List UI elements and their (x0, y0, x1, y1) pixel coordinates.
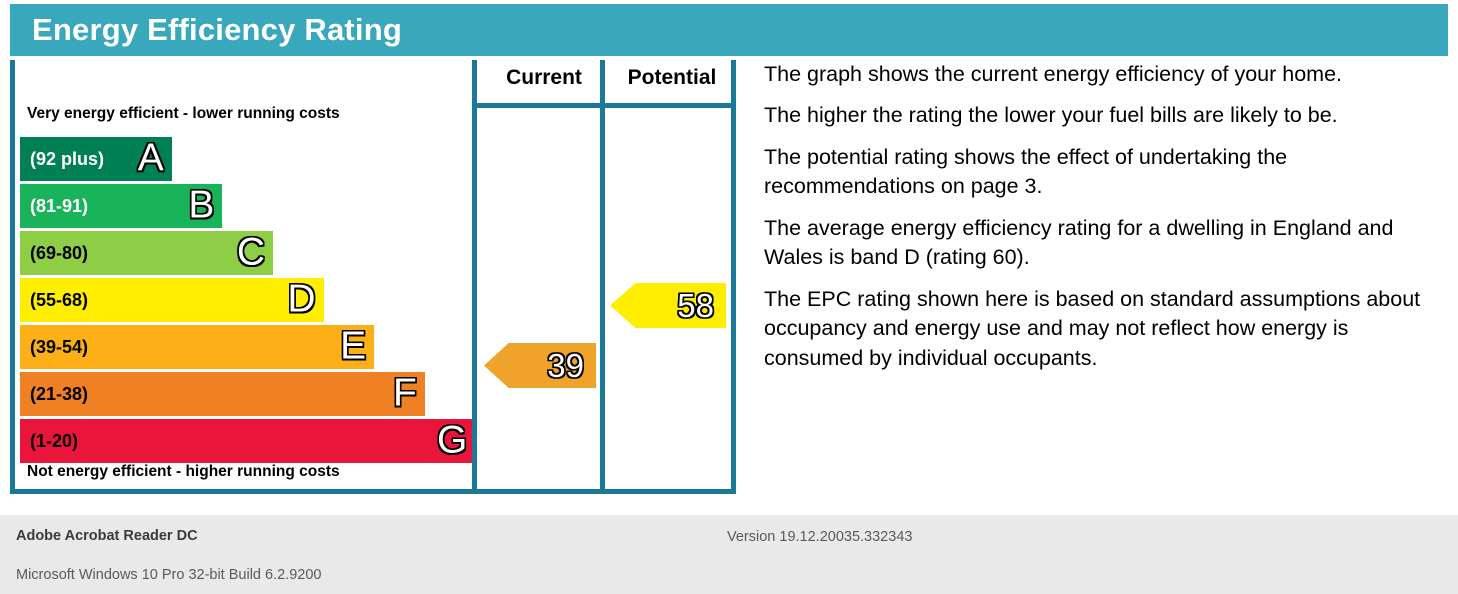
rating-band-d: (55-68)D (20, 278, 324, 322)
band-range-label: (39-54) (30, 338, 88, 356)
note-paragraph-3: The potential rating shows the effect of… (764, 143, 1450, 202)
column-divider-right (731, 60, 736, 494)
band-letter-c: C (237, 233, 265, 272)
rating-band-list: (92 plus)A(81-91)B(69-80)C(55-68)D(39-54… (20, 137, 480, 466)
note-paragraph-4: The average energy efficiency rating for… (764, 214, 1450, 273)
scale-caption-top: Very energy efficient - lower running co… (27, 105, 340, 123)
column-divider-left (472, 60, 477, 494)
band-letter-d: D (287, 280, 315, 319)
column-bottom-rule (472, 489, 736, 494)
band-range-label: (92 plus) (30, 150, 104, 168)
footer-app-name: Adobe Acrobat Reader DC (16, 528, 198, 544)
rating-band-f: (21-38)F (20, 372, 425, 416)
band-letter-b: B (188, 186, 214, 225)
band-letter-e: E (340, 327, 366, 366)
band-letter-f: F (393, 374, 417, 413)
footer-os-info: Microsoft Windows 10 Pro 32-bit Build 6.… (16, 567, 321, 583)
footer-version: Version 19.12.20035.332343 (727, 529, 912, 545)
column-divider-middle (600, 60, 605, 494)
acrobat-status-bar: Adobe Acrobat Reader DC Version 19.12.20… (0, 515, 1458, 594)
band-range-label: (21-38) (30, 385, 88, 403)
column-header-potential: Potential (608, 66, 736, 90)
current-rating-arrow: 39 (484, 343, 596, 388)
explanation-notes: The graph shows the current energy effic… (764, 60, 1450, 385)
rating-band-a: (92 plus)A (20, 137, 172, 181)
note-paragraph-1: The graph shows the current energy effic… (764, 60, 1450, 89)
epc-header-banner: Energy Efficiency Rating (10, 4, 1448, 56)
band-letter-g: G (437, 421, 467, 460)
note-paragraph-5: The EPC rating shown here is based on st… (764, 285, 1450, 373)
current-rating-value: 39 (547, 349, 584, 382)
page-title: Energy Efficiency Rating (10, 12, 402, 48)
column-header-current: Current (480, 66, 608, 90)
band-range-label: (55-68) (30, 291, 88, 309)
band-range-label: (81-91) (30, 197, 88, 215)
rating-band-g: (1-20)G (20, 419, 475, 463)
rating-band-c: (69-80)C (20, 231, 273, 275)
potential-rating-arrow: 58 (610, 283, 726, 328)
band-letter-a: A (138, 139, 164, 178)
rating-scale-panel: Very energy efficient - lower running co… (10, 60, 472, 494)
rating-band-e: (39-54)E (20, 325, 374, 369)
band-range-label: (69-80) (30, 244, 88, 262)
rating-band-b: (81-91)B (20, 184, 222, 228)
energy-efficiency-chart: Very energy efficient - lower running co… (10, 60, 736, 494)
potential-rating-value: 58 (677, 289, 714, 322)
note-paragraph-2: The higher the rating the lower your fue… (764, 101, 1450, 130)
scale-caption-bottom: Not energy efficient - higher running co… (27, 463, 340, 481)
band-range-label: (1-20) (30, 432, 78, 450)
